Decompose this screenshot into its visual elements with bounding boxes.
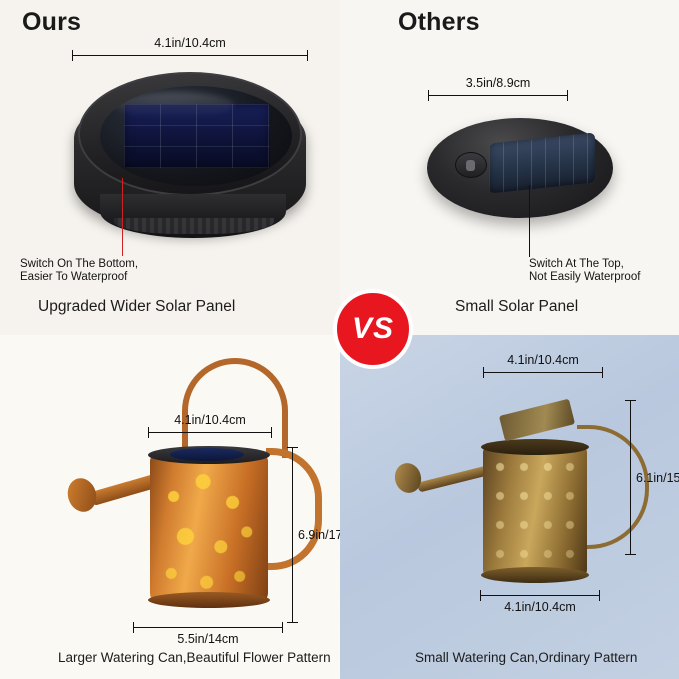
solar-rim <box>78 72 302 196</box>
dimension-bar <box>72 55 308 56</box>
dimension-bar <box>428 95 568 96</box>
dimension-cap-right <box>599 590 600 601</box>
comparison-infographic: Ours 4.1in/10.4cm Switch On The Bottom, … <box>0 0 679 679</box>
can-top-handle <box>182 358 288 458</box>
vs-badge: VS <box>333 289 413 369</box>
can-side-handle <box>266 448 322 570</box>
dimension-label: 4.1in/10.4cm <box>174 413 246 427</box>
solar-panel-others-image <box>427 118 613 230</box>
can-spout-rose <box>64 475 100 515</box>
dimension-label: 4.1in/10.4cm <box>154 36 226 50</box>
panel-others-solar: Others 3.5in/8.9cm Switch At The Top, No… <box>340 0 679 335</box>
dimension-cap-right <box>307 50 308 61</box>
dimension-bar <box>480 595 600 596</box>
dimension-cap-bottom <box>287 622 298 623</box>
can-top-rim-others <box>481 439 589 455</box>
watering-can-ours-image <box>30 335 330 630</box>
dimension-label: 6.1in/15.5cm <box>636 471 679 485</box>
dimension-label: 4.1in/10.4cm <box>504 600 576 614</box>
dimension-bar <box>630 400 631 555</box>
caption-ours-solar: Upgraded Wider Solar Panel <box>38 298 235 316</box>
dimension-cap-right <box>567 90 568 101</box>
leader-line-switch-ours <box>122 178 123 256</box>
can-body-ordinary-pattern <box>483 447 587 575</box>
dimension-cap-top <box>625 400 636 401</box>
can-bottom-rim-others <box>481 567 589 583</box>
dimension-bar <box>483 372 603 373</box>
dimension-bar <box>133 627 283 628</box>
can-body-flower-pattern <box>150 455 268 603</box>
dimension-cap-right <box>271 427 272 438</box>
dimension-cap-top <box>287 447 298 448</box>
solar-glass <box>100 86 292 186</box>
dimension-bar <box>148 432 272 433</box>
dimension-cap-bottom <box>625 554 636 555</box>
dimension-cap-right <box>602 367 603 378</box>
panel-others-can: 4.1in/10.4cm 6.1in/15.5cm 4.1in/10.4cm S… <box>340 335 679 679</box>
heading-ours: Ours <box>22 8 81 37</box>
caption-others-solar: Small Solar Panel <box>455 298 578 316</box>
dimension-cap-left <box>148 427 149 438</box>
dimension-cap-left <box>480 590 481 601</box>
dimension-label: 4.1in/10.4cm <box>507 353 579 367</box>
dimension-cap-left <box>483 367 484 378</box>
dimension-cap-left <box>72 50 73 61</box>
note-others-switch: Switch At The Top, Not Easily Waterproof <box>529 258 640 284</box>
caption-others-can: Small Watering Can,Ordinary Pattern <box>415 650 637 665</box>
panel-ours-solar: Ours 4.1in/10.4cm Switch On The Bottom, … <box>0 0 340 335</box>
dimension-label: 5.5in/14cm <box>177 632 238 646</box>
solar-panel-ours-image <box>74 72 306 242</box>
caption-ours-can: Larger Watering Can,Beautiful Flower Pat… <box>58 650 331 665</box>
switch-top-others <box>455 152 487 178</box>
dimension-bar <box>292 447 293 623</box>
note-ours-switch: Switch On The Bottom, Easier To Waterpro… <box>20 258 138 284</box>
can-solar-panel-others <box>499 399 575 442</box>
can-bottom-rim <box>148 592 270 608</box>
dimension-cap-right <box>282 622 283 633</box>
dimension-label: 6.9in/17.5cm <box>298 528 340 542</box>
dimension-cap-left <box>428 90 429 101</box>
dimension-cap-left <box>133 622 134 633</box>
panel-ours-can: 4.1in/10.4cm 6.9in/17.5cm 5.5in/14cm Lar… <box>0 335 340 679</box>
can-side-handle-others <box>577 425 649 549</box>
dimension-label: 3.5in/8.9cm <box>466 76 531 90</box>
heading-others: Others <box>398 8 480 37</box>
solar-highlight <box>114 92 234 118</box>
leader-line-switch-others <box>529 185 530 257</box>
can-solar-panel <box>170 448 244 461</box>
vs-badge-label: VS <box>352 312 394 346</box>
